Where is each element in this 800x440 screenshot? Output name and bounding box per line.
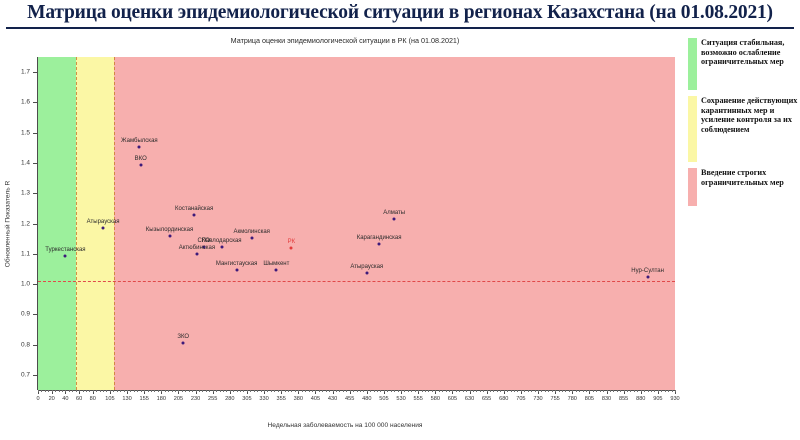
x-tick-minor [367,390,368,392]
x-tick-label: 60 [76,396,82,402]
x-tick-minor [83,390,84,392]
y-tick-mark [33,345,37,346]
data-point-label: ЗКО [177,334,189,340]
x-tick-minor [665,390,666,392]
zone-green-lower [38,281,76,390]
x-tick-minor [572,390,573,392]
legend-swatch [688,168,697,206]
x-tick-minor [548,390,549,392]
x-tick-minor [134,390,135,392]
x-tick-minor [233,390,234,392]
y-axis-title: Обновленный Показатель R [5,180,12,266]
x-tick-minor [428,390,429,392]
legend-item: Введение строгих ограничительных мер [688,168,799,206]
data-point-label: Мангистауская [216,261,257,267]
x-tick-label: 555 [413,396,422,402]
data-point-label: Шымкент [263,261,289,267]
x-tick-minor [627,390,628,392]
x-tick-minor [261,390,262,392]
data-point[interactable] [102,227,105,230]
x-tick-minor [103,390,104,392]
x-tick-minor [106,390,107,392]
legend: Ситуация стабильная, возможно ослабление… [688,38,800,238]
x-tick-minor [651,390,652,392]
data-point-label: Алматы [383,210,405,216]
x-tick-label: 880 [636,396,645,402]
x-tick-label: 20 [49,396,55,402]
x-tick-minor [141,390,142,392]
y-axis-line [37,57,38,390]
x-tick-minor [641,390,642,392]
x-tick-minor [326,390,327,392]
x-tick-minor [196,390,197,392]
x-tick-minor [175,390,176,392]
x-tick-minor [100,390,101,392]
x-tick-minor [76,390,77,392]
x-tick-label: 805 [585,396,594,402]
data-point[interactable] [193,214,196,217]
x-tick-minor [41,390,42,392]
x-tick-label: 130 [122,396,131,402]
legend-label: Сохранение действующих карантинных мер и… [701,96,799,134]
x-tick-minor [432,390,433,392]
x-tick-minor [545,390,546,392]
x-tick-minor [137,390,138,392]
x-tick-label: 705 [516,396,525,402]
data-point[interactable] [235,268,238,271]
data-point-label: Павлодарская [202,238,242,244]
x-tick-minor [521,390,522,392]
x-tick-minor [213,390,214,392]
x-tick-minor [59,390,60,392]
x-tick-minor [634,390,635,392]
x-tick-minor [658,390,659,392]
x-tick-minor [350,390,351,392]
x-tick-minor [552,390,553,392]
x-tick-minor [346,390,347,392]
x-tick-minor [497,390,498,392]
x-tick-minor [113,390,114,392]
x-tick-minor [199,390,200,392]
x-tick-minor [593,390,594,392]
x-tick-minor [278,390,279,392]
data-point[interactable] [138,146,141,149]
data-point-label: Нур-Султан [631,268,664,274]
x-tick-minor [483,390,484,392]
x-tick-minor [285,390,286,392]
x-tick-minor [630,390,631,392]
x-tick-minor [329,390,330,392]
x-tick-minor [654,390,655,392]
x-tick-minor [267,390,268,392]
x-tick-label: 530 [396,396,405,402]
x-tick-minor [559,390,560,392]
x-tick-minor [425,390,426,392]
x-tick-minor [411,390,412,392]
x-tick-minor [463,390,464,392]
x-tick-minor [661,390,662,392]
x-tick-minor [343,390,344,392]
data-point-label: Кызылординская [146,227,193,233]
zone-boundary-green-yellow [76,57,77,390]
x-tick-minor [271,390,272,392]
x-tick-minor [55,390,56,392]
x-tick-minor [487,390,488,392]
x-tick-minor [322,390,323,392]
legend-swatch [688,38,697,90]
x-tick-minor [339,390,340,392]
x-tick-label: 255 [208,396,217,402]
x-tick-minor [380,390,381,392]
x-tick-label: 80 [90,396,96,402]
x-tick-minor [607,390,608,392]
chart-subtitle: Матрица оценки эпидемиологической ситуац… [0,36,690,45]
x-tick-minor [418,390,419,392]
legend-item: Ситуация стабильная, возможно ослабление… [688,38,799,90]
x-tick-minor [96,390,97,392]
x-tick-minor [401,390,402,392]
x-tick-label: 205 [174,396,183,402]
data-point-label: Атырауская [87,219,120,225]
data-point[interactable] [250,237,253,240]
x-tick-minor [565,390,566,392]
x-tick-minor [250,390,251,392]
data-point-label: Туркестанская [45,247,85,253]
x-tick-label: 40 [62,396,68,402]
x-tick-minor [517,390,518,392]
x-tick-minor [230,390,231,392]
x-tick-minor [644,390,645,392]
x-tick-minor [192,390,193,392]
x-tick-minor [637,390,638,392]
x-tick-minor [315,390,316,392]
x-tick-minor [668,390,669,392]
data-point-label: Костанайская [175,206,213,212]
x-tick-minor [514,390,515,392]
data-point-label: Жамбылская [121,138,158,144]
x-tick-minor [168,390,169,392]
x-tick-minor [45,390,46,392]
x-tick-minor [148,390,149,392]
x-tick-minor [333,390,334,392]
x-axis-title: Недельная заболеваемость на 100 000 насе… [0,422,690,429]
x-tick-minor [202,390,203,392]
x-tick-minor [274,390,275,392]
x-tick-minor [65,390,66,392]
x-tick-minor [435,390,436,392]
x-tick-minor [220,390,221,392]
x-tick-label: 430 [328,396,337,402]
data-point[interactable] [168,235,171,238]
x-tick-minor [117,390,118,392]
plot-canvas[interactable]: ЖамбылскаяВКОКостанайскаяАтыраускаяКызыл… [38,57,675,390]
x-tick-label: 680 [499,396,508,402]
data-point[interactable] [220,246,223,249]
data-point[interactable] [393,217,396,220]
x-tick-minor [357,390,358,392]
y-tick-mark [33,102,37,103]
x-tick-label: 155 [139,396,148,402]
x-tick-minor [524,390,525,392]
x-tick-minor [370,390,371,392]
data-point[interactable] [646,276,649,279]
x-tick-label: 830 [602,396,611,402]
data-point[interactable] [365,272,368,275]
data-point[interactable] [290,247,293,250]
x-tick-minor [507,390,508,392]
x-tick-label: 655 [482,396,491,402]
x-tick-label: 0 [36,396,39,402]
x-tick-minor [89,390,90,392]
x-tick-minor [312,390,313,392]
x-tick-minor [374,390,375,392]
y-tick-mark [33,254,37,255]
x-tick-minor [422,390,423,392]
x-tick-minor [72,390,73,392]
data-point[interactable] [195,253,198,256]
x-tick-minor [281,390,282,392]
x-tick-minor [452,390,453,392]
x-tick-minor [120,390,121,392]
legend-swatch [688,96,697,162]
x-tick-minor [86,390,87,392]
x-tick-label: 630 [465,396,474,402]
y-axis-title-wrap: Обновленный Показатель R [2,57,14,390]
x-tick-minor [144,390,145,392]
x-tick-minor [178,390,179,392]
x-tick-minor [470,390,471,392]
y-tick-mark [33,375,37,376]
x-tick-minor [500,390,501,392]
x-tick-label: 330 [259,396,268,402]
x-tick-minor [319,390,320,392]
x-tick-minor [257,390,258,392]
x-tick-label: 780 [568,396,577,402]
zone-yellow-lower [76,281,114,390]
x-tick-minor [404,390,405,392]
x-tick-minor [446,390,447,392]
x-tick-minor [353,390,354,392]
x-tick-minor [130,390,131,392]
x-tick-minor [182,390,183,392]
x-tick-minor [511,390,512,392]
x-tick-minor [110,390,111,392]
x-tick-minor [209,390,210,392]
x-tick-minor [154,390,155,392]
x-tick-minor [562,390,563,392]
x-tick-minor [528,390,529,392]
x-tick-label: 280 [225,396,234,402]
x-tick-minor [295,390,296,392]
x-tick-minor [394,390,395,392]
screenshot-root: Матрица оценки эпидемиологической ситуац… [0,0,800,440]
y-tick-mark [33,193,37,194]
x-tick-minor [240,390,241,392]
x-tick-minor [535,390,536,392]
x-tick-minor [161,390,162,392]
x-tick-minor [459,390,460,392]
data-point-label: Карагандинская [357,235,402,241]
x-tick-minor [620,390,621,392]
x-tick-minor [216,390,217,392]
x-tick-label: 580 [431,396,440,402]
x-tick-minor [391,390,392,392]
x-tick-label: 180 [157,396,166,402]
x-tick-minor [583,390,584,392]
x-tick-minor [439,390,440,392]
x-tick-minor [387,390,388,392]
x-tick-label: 355 [276,396,285,402]
data-point-label: РК [288,239,296,245]
x-tick-label: 380 [294,396,303,402]
x-tick-minor [473,390,474,392]
x-tick-minor [69,390,70,392]
x-tick-minor [579,390,580,392]
x-tick-minor [226,390,227,392]
x-tick-minor [223,390,224,392]
y-tick-mark [33,314,37,315]
data-point[interactable] [64,255,67,258]
x-tick-minor [172,390,173,392]
x-tick-minor [586,390,587,392]
x-tick-minor [185,390,186,392]
x-tick-minor [442,390,443,392]
x-tick-minor [48,390,49,392]
title-underline [6,27,794,29]
x-tick-minor [415,390,416,392]
x-tick-minor [648,390,649,392]
x-tick-minor [243,390,244,392]
x-tick-minor [62,390,63,392]
x-tick-minor [672,390,673,392]
x-tick-minor [398,390,399,392]
x-tick-minor [589,390,590,392]
x-tick-minor [603,390,604,392]
data-point-label: Атырауская [350,264,383,270]
y-tick-mark [33,133,37,134]
x-tick-label: 855 [619,396,628,402]
x-tick-label: 480 [362,396,371,402]
x-tick-minor [309,390,310,392]
x-tick-minor [305,390,306,392]
threshold-line-r1 [38,281,675,282]
x-tick-minor [165,390,166,392]
x-tick-minor [206,390,207,392]
x-tick-minor [288,390,289,392]
x-tick-minor [476,390,477,392]
x-tick-minor [79,390,80,392]
x-tick-minor [93,390,94,392]
x-tick-minor [298,390,299,392]
x-tick-minor [600,390,601,392]
data-point[interactable] [182,342,185,345]
x-tick-minor [555,390,556,392]
x-tick-minor [247,390,248,392]
data-point-label: Акмолинская [233,229,269,235]
y-tick-mark [33,72,37,73]
x-tick-minor [151,390,152,392]
x-tick-minor [291,390,292,392]
x-tick-minor [302,390,303,392]
x-tick-label: 305 [242,396,251,402]
x-tick-minor [538,390,539,392]
x-tick-minor [52,390,53,392]
x-tick-label: 905 [653,396,662,402]
legend-label: Ситуация стабильная, возможно ослабление… [701,38,799,67]
x-tick-minor [617,390,618,392]
x-tick-minor [127,390,128,392]
x-tick-minor [675,390,676,392]
x-tick-minor [124,390,125,392]
zone-pink [114,57,675,390]
x-tick-minor [456,390,457,392]
x-tick-minor [360,390,361,392]
page-title: Матрица оценки эпидемиологической ситуац… [0,2,800,28]
x-tick-minor [569,390,570,392]
x-tick-minor [531,390,532,392]
x-tick-minor [189,390,190,392]
y-tick-mark [33,284,37,285]
data-point-label: Актюбинская [179,245,215,251]
x-tick-label: 455 [345,396,354,402]
x-tick-label: 730 [533,396,542,402]
x-tick-minor [264,390,265,392]
data-point[interactable] [275,268,278,271]
x-tick-minor [624,390,625,392]
x-tick-minor [466,390,467,392]
x-tick-minor [610,390,611,392]
x-tick-minor [408,390,409,392]
x-tick-minor [490,390,491,392]
x-tick-minor [384,390,385,392]
x-tick-minor [480,390,481,392]
y-tick-mark [33,163,37,164]
x-tick-label: 230 [191,396,200,402]
x-tick-minor [38,390,39,392]
data-point[interactable] [378,243,381,246]
x-tick-label: 755 [550,396,559,402]
x-tick-minor [541,390,542,392]
x-tick-minor [493,390,494,392]
x-tick-minor [237,390,238,392]
x-tick-label: 605 [448,396,457,402]
y-tick-mark [33,224,37,225]
x-tick-minor [377,390,378,392]
legend-label: Введение строгих ограничительных мер [701,168,799,187]
x-tick-minor [596,390,597,392]
x-tick-minor [254,390,255,392]
x-tick-label: 105 [105,396,114,402]
x-tick-minor [613,390,614,392]
x-tick-minor [158,390,159,392]
chart-area: Матрица оценки эпидемиологической ситуац… [0,30,690,440]
x-tick-label: 405 [311,396,320,402]
x-tick-minor [363,390,364,392]
legend-item: Сохранение действующих карантинных мер и… [688,96,799,162]
x-tick-minor [336,390,337,392]
x-tick-minor [504,390,505,392]
x-tick-minor [576,390,577,392]
data-point[interactable] [139,164,142,167]
x-tick-label: 930 [670,396,679,402]
x-tick-minor [449,390,450,392]
x-tick-label: 505 [379,396,388,402]
data-point-label: ВКО [135,156,147,162]
